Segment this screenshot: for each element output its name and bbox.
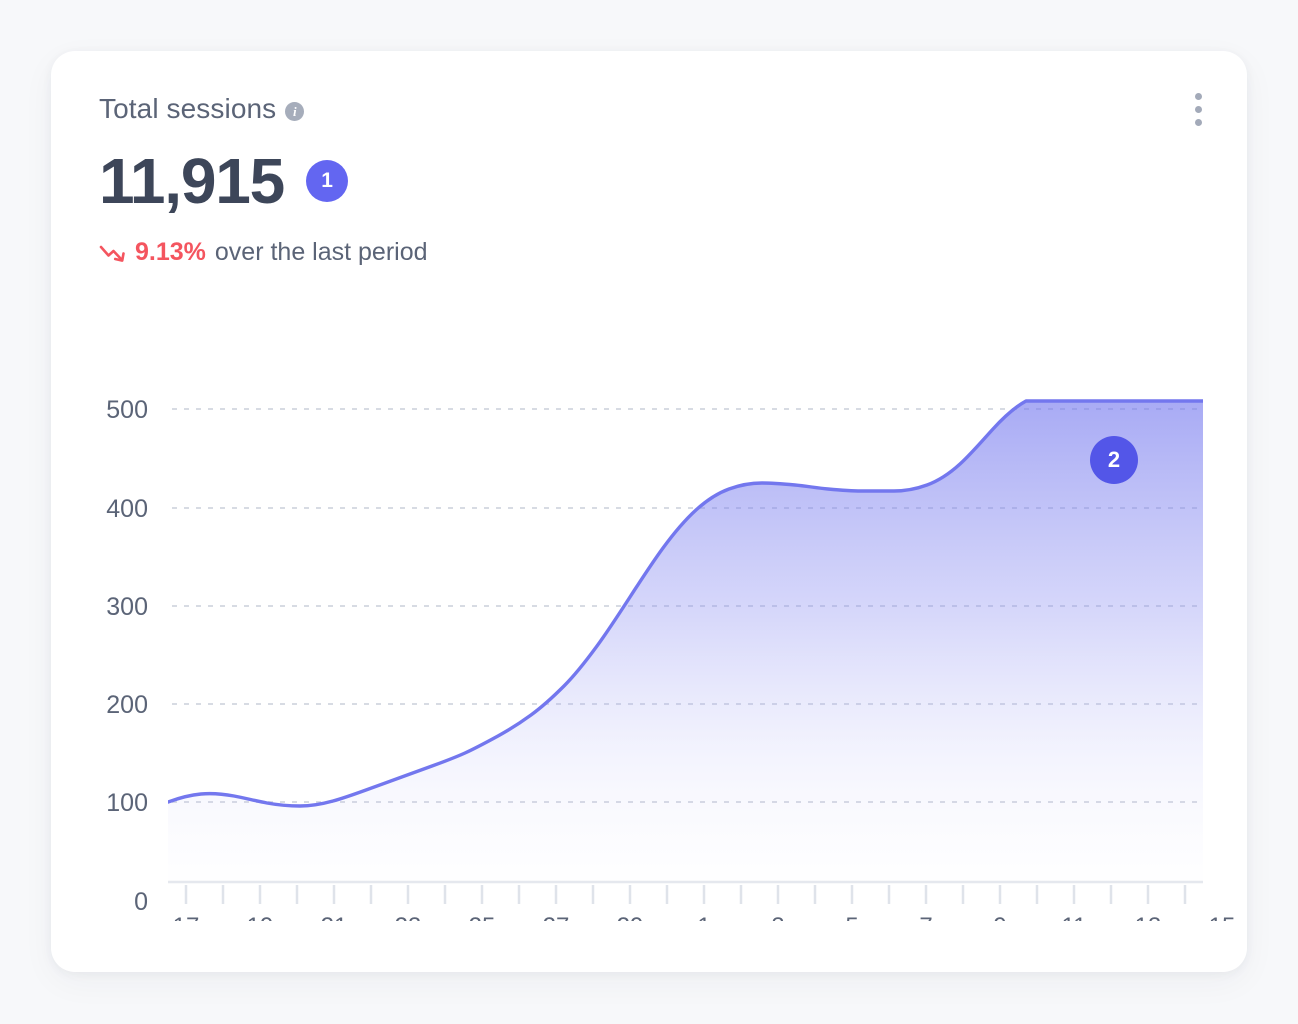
x-tick-label: 1 bbox=[697, 913, 710, 921]
y-axis-labels: 500 400 300 200 100 0 bbox=[106, 396, 148, 916]
x-tick-label: 27 bbox=[543, 913, 570, 921]
kebab-dot-3 bbox=[1195, 119, 1202, 126]
y-tick-label: 300 bbox=[106, 593, 148, 621]
x-tick-label: 5 bbox=[845, 913, 858, 921]
x-tick-label: 13 bbox=[1135, 913, 1162, 921]
x-tick-label: 17 bbox=[173, 913, 200, 921]
page-title: Total sessions bbox=[99, 92, 276, 126]
chart-annotation-badge[interactable]: 2 bbox=[1090, 436, 1138, 484]
x-tick-label: 7 bbox=[919, 913, 932, 921]
sessions-area-chart: 500 400 300 200 100 0 bbox=[51, 301, 1247, 921]
y-tick-label: 100 bbox=[106, 789, 148, 817]
kebab-dot-2 bbox=[1195, 106, 1202, 113]
x-tick-label: 9 bbox=[993, 913, 1006, 921]
page-root: Total sessions i 11,915 1 9.13% ov bbox=[0, 0, 1298, 1024]
delta-percentage: 9.13% bbox=[135, 238, 206, 267]
total-sessions-card: Total sessions i 11,915 1 9.13% ov bbox=[51, 51, 1247, 972]
x-tick-label: 3 bbox=[771, 913, 784, 921]
x-tick-label: 23 bbox=[395, 913, 422, 921]
x-tick-label: 15 bbox=[1209, 913, 1236, 921]
y-tick-label: 0 bbox=[134, 888, 148, 916]
status-badge[interactable]: 1 bbox=[306, 160, 348, 202]
metric-delta-row: 9.13% over the last period bbox=[99, 238, 428, 267]
info-icon[interactable]: i bbox=[285, 102, 304, 121]
y-tick-label: 500 bbox=[106, 396, 148, 424]
kebab-dot-1 bbox=[1195, 93, 1202, 100]
x-axis-ticks bbox=[186, 885, 1185, 904]
x-axis-labels: 17 19 21 23 25 27 29 1 3 5 7 9 11 13 15 … bbox=[170, 913, 1235, 921]
trend-down-arrow-icon bbox=[99, 244, 126, 264]
y-tick-label: 400 bbox=[106, 495, 148, 523]
metric-value-row: 11,915 1 bbox=[99, 149, 348, 213]
chart-area-fill bbox=[168, 401, 1203, 882]
delta-description: over the last period bbox=[215, 238, 428, 267]
x-tick-label: 19 bbox=[247, 913, 274, 921]
x-tick-label: 29 bbox=[617, 913, 644, 921]
card-header: Total sessions i bbox=[99, 92, 1213, 126]
card-title-row: Total sessions i bbox=[99, 92, 304, 126]
chart-series-group bbox=[168, 401, 1203, 882]
metric-value: 11,915 bbox=[99, 149, 284, 213]
x-tick-label: 11 bbox=[1062, 913, 1087, 921]
y-tick-label: 200 bbox=[106, 691, 148, 719]
chart-svg: 500 400 300 200 100 0 bbox=[51, 301, 1247, 921]
kebab-menu-icon[interactable] bbox=[1183, 92, 1213, 126]
x-tick-label: 25 bbox=[469, 913, 496, 921]
x-tick-label: 21 bbox=[321, 913, 348, 921]
